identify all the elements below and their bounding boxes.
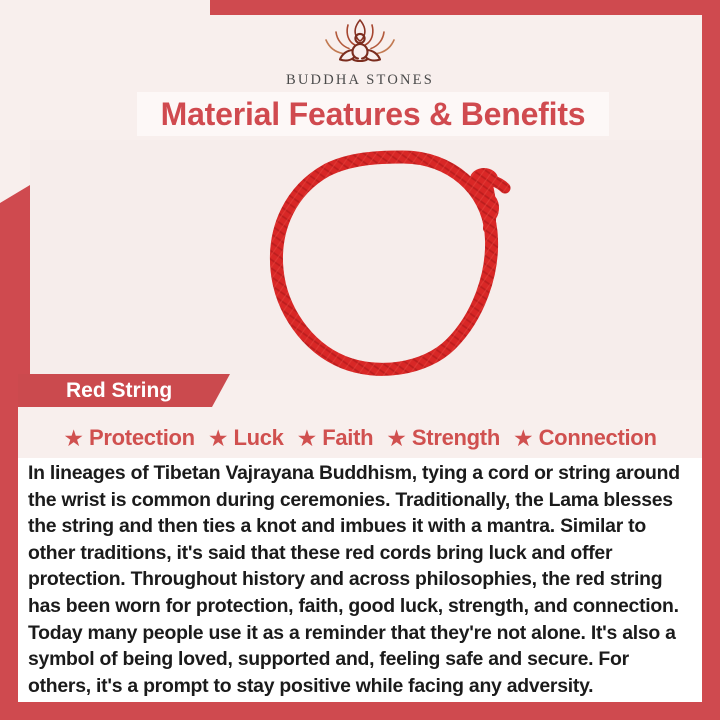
- benefit-item-protection: ★ Protection: [63, 425, 194, 451]
- star-icon: ★: [297, 427, 318, 450]
- benefit-item-faith: ★ Faith: [297, 425, 374, 451]
- benefit-label: Connection: [539, 425, 657, 451]
- benefit-label: Strength: [412, 425, 500, 451]
- product-image-panel: [30, 140, 702, 380]
- description-text: In lineages of Tibetan Vajrayana Buddhis…: [28, 460, 686, 699]
- decorative-band-top: [210, 0, 720, 15]
- description-panel: In lineages of Tibetan Vajrayana Buddhis…: [18, 458, 702, 702]
- benefit-label: Luck: [233, 425, 283, 451]
- brand-logo: BUDDHA STONES: [0, 16, 720, 94]
- material-features-infographic: BUDDHA STONES Material Features & Benefi…: [0, 0, 720, 720]
- brand-name: BUDDHA STONES: [286, 72, 434, 89]
- page-title: Material Features & Benefits: [161, 96, 586, 133]
- benefit-item-luck: ★ Luck: [208, 425, 284, 451]
- decorative-band-right: [702, 0, 720, 720]
- decorative-band-bottom: [0, 700, 720, 720]
- lotus-meditation-icon: [312, 16, 408, 70]
- product-label: Red String: [66, 379, 172, 403]
- star-icon: ★: [63, 427, 84, 450]
- page-title-banner: Material Features & Benefits: [137, 92, 609, 136]
- benefits-row: ★ Protection ★ Luck ★ Faith ★ Strength ★…: [18, 420, 702, 456]
- star-icon: ★: [513, 427, 534, 450]
- red-braided-cord-bracelet-icon: [255, 150, 535, 380]
- benefit-item-strength: ★ Strength: [386, 425, 500, 451]
- benefit-item-connection: ★ Connection: [513, 425, 657, 451]
- star-icon: ★: [208, 427, 229, 450]
- product-label-banner: Red String: [18, 374, 230, 407]
- star-icon: ★: [386, 427, 407, 450]
- decorative-band-bottom-left: [0, 398, 18, 720]
- benefit-label: Faith: [322, 425, 373, 451]
- decorative-band-left: [0, 185, 30, 400]
- benefit-label: Protection: [89, 425, 195, 451]
